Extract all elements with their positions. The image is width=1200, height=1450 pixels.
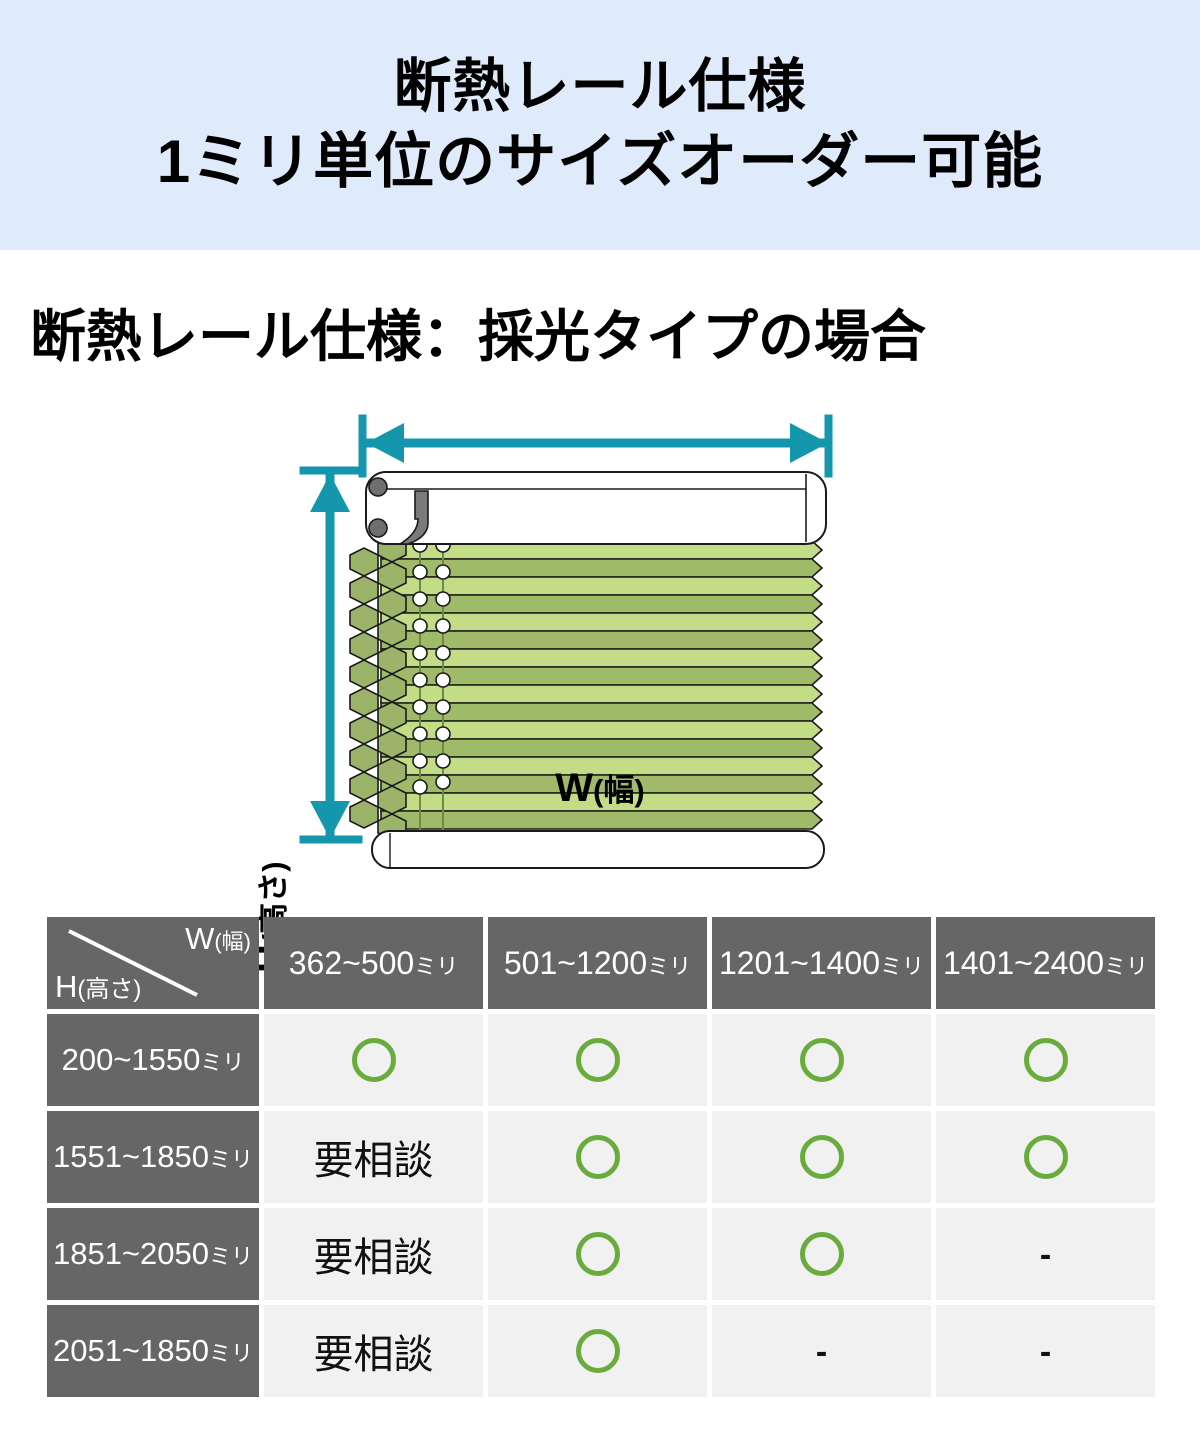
cell-r3c1: 要相談 — [264, 1208, 483, 1300]
column-header-4: 1401~2400ミリ — [936, 917, 1155, 1009]
consult-required-label: 要相談 — [314, 1236, 434, 1280]
cell-r4c1: 要相談 — [264, 1305, 483, 1397]
cell-r2c2 — [488, 1111, 707, 1203]
cell-r4c3: - — [712, 1305, 931, 1397]
blind-diagram: W(幅) H(高さ) — [0, 373, 1200, 918]
cell-r2c4 — [936, 1111, 1155, 1203]
row-header-4: 2051~1850ミリ — [47, 1305, 259, 1397]
size-availability-table: W(幅) H(高さ) 362~500ミリ 501~1200ミリ 1201~140… — [42, 912, 1160, 1402]
unavailable-dash-icon: - — [1040, 1238, 1051, 1272]
row-header-2: 1551~1850ミリ — [47, 1111, 259, 1203]
cell-r1c2 — [488, 1014, 707, 1106]
table-header-row: W(幅) H(高さ) 362~500ミリ 501~1200ミリ 1201~140… — [47, 917, 1155, 1009]
section-title: 断熱レール仕様：採光タイプの場合 — [30, 292, 1200, 373]
bottom-rail — [372, 831, 824, 868]
cell-r4c2 — [488, 1305, 707, 1397]
availability-circle-icon — [1024, 1135, 1068, 1179]
table-row: 1851~2050ミリ 要相談 - — [47, 1208, 1155, 1300]
blind-illustration — [0, 373, 1200, 918]
unavailable-dash-icon: - — [816, 1335, 827, 1369]
cell-r4c4: - — [936, 1305, 1155, 1397]
banner-title-line1: 断熱レール仕様 — [393, 54, 806, 121]
table-row: 2051~1850ミリ 要相談 - - — [47, 1305, 1155, 1397]
consult-required-label: 要相談 — [314, 1333, 434, 1377]
head-rail — [366, 472, 826, 544]
table-corner-cell: W(幅) H(高さ) — [47, 917, 259, 1009]
availability-circle-icon — [800, 1135, 844, 1179]
table-row: 200~1550ミリ — [47, 1014, 1155, 1106]
table-row: 1551~1850ミリ 要相談 — [47, 1111, 1155, 1203]
honeycomb-cells — [350, 534, 406, 838]
consult-required-label: 要相談 — [314, 1139, 434, 1183]
banner-title-line2: 1ミリ単位のサイズオーダー可能 — [157, 127, 1044, 196]
cell-r1c3 — [712, 1014, 931, 1106]
availability-circle-icon — [352, 1038, 396, 1082]
cell-r2c3 — [712, 1111, 931, 1203]
cell-r1c4 — [936, 1014, 1155, 1106]
availability-circle-icon — [800, 1232, 844, 1276]
availability-circle-icon — [1024, 1038, 1068, 1082]
cell-r3c4: - — [936, 1208, 1155, 1300]
unavailable-dash-icon: - — [1040, 1335, 1051, 1369]
column-header-3: 1201~1400ミリ — [712, 917, 931, 1009]
width-dimension-arrow — [359, 415, 832, 477]
availability-circle-icon — [576, 1135, 620, 1179]
column-header-1: 362~500ミリ — [264, 917, 483, 1009]
row-header-3: 1851~2050ミリ — [47, 1208, 259, 1300]
header-banner: 断熱レール仕様 1ミリ単位のサイズオーダー可能 — [0, 0, 1200, 250]
corner-col-label: W(幅) — [185, 921, 251, 957]
cell-r3c3 — [712, 1208, 931, 1300]
cell-r3c2 — [488, 1208, 707, 1300]
availability-circle-icon — [576, 1038, 620, 1082]
corner-row-label: H(高さ) — [55, 969, 141, 1005]
availability-circle-icon — [576, 1232, 620, 1276]
availability-circle-icon — [576, 1329, 620, 1373]
availability-circle-icon — [800, 1038, 844, 1082]
cell-r1c1 — [264, 1014, 483, 1106]
column-header-2: 501~1200ミリ — [488, 917, 707, 1009]
cell-r2c1: 要相談 — [264, 1111, 483, 1203]
row-header-1: 200~1550ミリ — [47, 1014, 259, 1106]
